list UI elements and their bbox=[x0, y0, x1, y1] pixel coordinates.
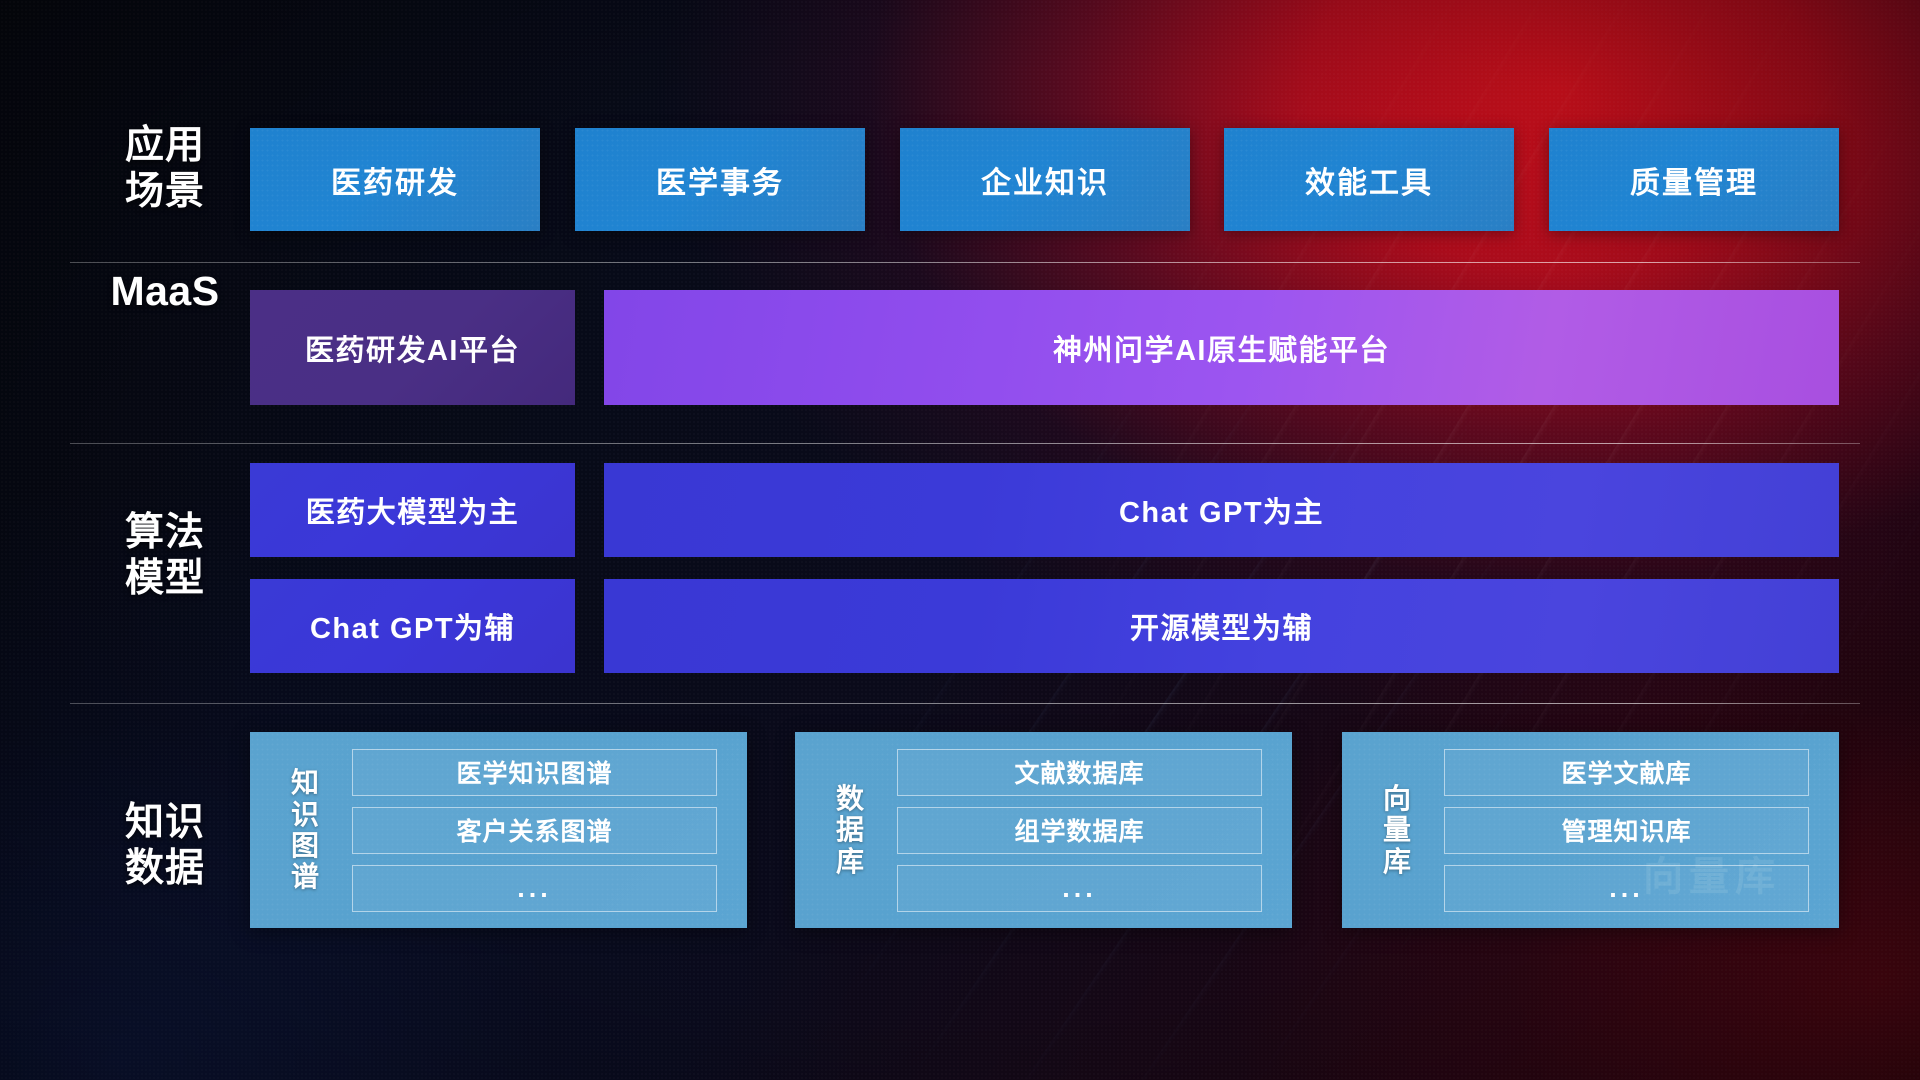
knowledge-group-database-items: 文献数据库 组学数据库 ... bbox=[897, 749, 1262, 912]
slide-canvas: 应用场景 医药研发 医学事务 企业知识 效能工具 质量管理 bbox=[0, 0, 1920, 1080]
knowledge-group-graph[interactable]: 知识图谱 医学知识图谱 客户关系图谱 ... bbox=[250, 732, 747, 928]
knowledge-group-vector[interactable]: 向量库 向量库 医学文献库 管理知识库 ... bbox=[1342, 732, 1839, 928]
algorithm-box-primary-right[interactable]: Chat GPT为主 bbox=[604, 463, 1839, 557]
knowledge-item[interactable]: 医学知识图谱 bbox=[352, 749, 717, 796]
knowledge-item-more[interactable]: ... bbox=[1444, 865, 1809, 912]
app-box-4[interactable]: 效能工具 bbox=[1224, 128, 1514, 231]
knowledge-item[interactable]: 医学文献库 bbox=[1444, 749, 1809, 796]
app-box-4-label: 效能工具 bbox=[1305, 158, 1433, 202]
maas-box-pharma-platform[interactable]: 医药研发AI平台 bbox=[250, 290, 575, 405]
knowledge-group-vector-label: 向量库 bbox=[1374, 783, 1420, 877]
knowledge-item-more[interactable]: ... bbox=[352, 865, 717, 912]
app-box-5[interactable]: 质量管理 bbox=[1549, 128, 1839, 231]
maas-box-shenzhou-platform[interactable]: 神州问学AI原生赋能平台 bbox=[604, 290, 1839, 405]
app-box-3[interactable]: 企业知识 bbox=[900, 128, 1190, 231]
divider-algorithm-knowledge bbox=[70, 703, 1860, 704]
algorithm-box-secondary-left[interactable]: Chat GPT为辅 bbox=[250, 579, 575, 673]
divider-maas-algorithm bbox=[70, 443, 1860, 444]
algorithm-box-secondary-right[interactable]: 开源模型为辅 bbox=[604, 579, 1839, 673]
row-label-maas: MaaS bbox=[90, 268, 240, 316]
divider-application-maas bbox=[70, 262, 1860, 263]
algorithm-box-secondary-right-label: 开源模型为辅 bbox=[1130, 605, 1313, 647]
row-label-application: 应用场景 bbox=[90, 123, 240, 214]
app-box-3-label: 企业知识 bbox=[981, 158, 1109, 202]
row-label-algorithm: 算法模型 bbox=[90, 510, 240, 601]
knowledge-item[interactable]: 管理知识库 bbox=[1444, 807, 1809, 854]
knowledge-group-vector-items: 医学文献库 管理知识库 ... bbox=[1444, 749, 1809, 912]
maas-box-shenzhou-platform-label: 神州问学AI原生赋能平台 bbox=[1053, 327, 1390, 369]
algorithm-box-secondary-left-label: Chat GPT为辅 bbox=[310, 605, 515, 647]
knowledge-item[interactable]: 文献数据库 bbox=[897, 749, 1262, 796]
algorithm-box-primary-left[interactable]: 医药大模型为主 bbox=[250, 463, 575, 557]
maas-box-pharma-platform-label: 医药研发AI平台 bbox=[305, 327, 520, 369]
app-box-1[interactable]: 医药研发 bbox=[250, 128, 540, 231]
knowledge-group-graph-items: 医学知识图谱 客户关系图谱 ... bbox=[352, 749, 717, 912]
algorithm-box-primary-right-label: Chat GPT为主 bbox=[1119, 489, 1324, 531]
app-box-1-label: 医药研发 bbox=[331, 158, 459, 202]
knowledge-group-database-label: 数据库 bbox=[827, 783, 873, 877]
row-label-knowledge: 知识数据 bbox=[90, 800, 240, 891]
knowledge-item[interactable]: 客户关系图谱 bbox=[352, 807, 717, 854]
knowledge-item-more[interactable]: ... bbox=[897, 865, 1262, 912]
knowledge-group-database[interactable]: 数据库 文献数据库 组学数据库 ... bbox=[795, 732, 1292, 928]
app-box-5-label: 质量管理 bbox=[1630, 158, 1758, 202]
app-box-2-label: 医学事务 bbox=[656, 158, 784, 202]
algorithm-box-primary-left-label: 医药大模型为主 bbox=[306, 489, 520, 531]
architecture-diagram: 应用场景 医药研发 医学事务 企业知识 效能工具 质量管理 bbox=[0, 0, 1920, 1080]
knowledge-item[interactable]: 组学数据库 bbox=[897, 807, 1262, 854]
knowledge-group-graph-label: 知识图谱 bbox=[282, 767, 328, 892]
app-box-2[interactable]: 医学事务 bbox=[575, 128, 865, 231]
